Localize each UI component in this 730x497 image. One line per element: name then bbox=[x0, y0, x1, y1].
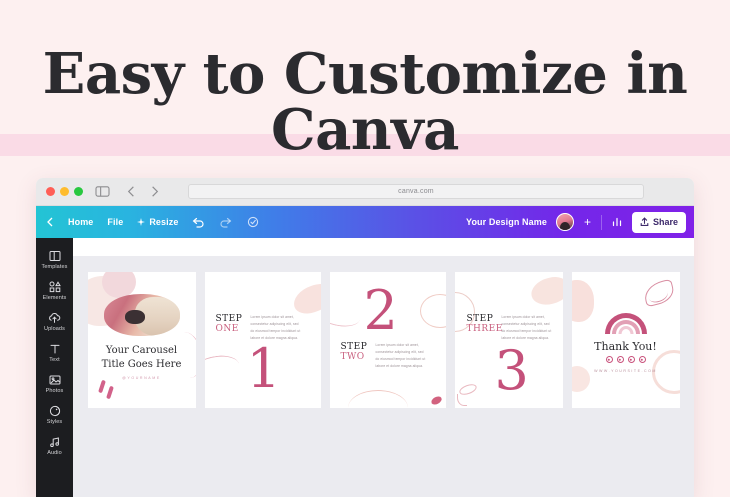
window-controls[interactable] bbox=[46, 187, 83, 196]
chevron-right-icon[interactable] bbox=[147, 185, 162, 198]
file-menu-button[interactable]: File bbox=[107, 217, 123, 227]
close-window-button[interactable] bbox=[46, 187, 55, 196]
slide-1[interactable]: Your Carousel Title Goes Here @YOURNAME bbox=[88, 272, 196, 408]
headline-banner: Easy to Customize in Canva bbox=[0, 46, 730, 158]
sidebar-label: Elements bbox=[43, 295, 67, 301]
sidebar-label: Uploads bbox=[44, 326, 65, 332]
instagram-icon[interactable] bbox=[617, 356, 624, 363]
sidebar-item-text[interactable]: Text bbox=[36, 337, 73, 367]
chevron-left-icon[interactable] bbox=[124, 185, 139, 198]
url-text: canva.com bbox=[398, 188, 434, 195]
slide-title[interactable]: Your Carousel Title Goes Here bbox=[88, 344, 196, 371]
slide-number: 3 bbox=[495, 344, 529, 398]
decor-hook bbox=[457, 394, 467, 406]
decor-ring bbox=[420, 294, 446, 328]
rainbow-graphic bbox=[605, 312, 647, 334]
avatar[interactable] bbox=[556, 213, 574, 231]
toolbar-right-group: Your Design Name + Share bbox=[466, 212, 686, 233]
editor-sidebar: Templates Elements Uploads bbox=[36, 238, 73, 497]
magic-resize-icon bbox=[137, 218, 145, 226]
sidebar-label: Audio bbox=[47, 450, 62, 456]
decor-arc bbox=[348, 390, 408, 408]
facebook-icon[interactable] bbox=[606, 356, 613, 363]
home-label: Home bbox=[68, 217, 93, 227]
canvas-area: Your Carousel Title Goes Here @YOURNAME … bbox=[73, 238, 694, 497]
canvas-toolbar-strip bbox=[73, 238, 694, 256]
social-icons-row bbox=[572, 356, 680, 363]
thank-you-text[interactable]: Thank You! bbox=[572, 340, 680, 353]
slide-step-label[interactable]: STEP THREE bbox=[467, 314, 503, 335]
elements-icon bbox=[49, 280, 61, 293]
website-url[interactable]: WWW.YOURSITE.COM bbox=[572, 369, 680, 373]
step-word-1: STEP bbox=[341, 342, 368, 352]
file-label: File bbox=[107, 217, 123, 227]
decor-dash bbox=[98, 380, 106, 394]
slide-3[interactable]: 2 STEP TWO Lorem ipsum dolor sit amet, c… bbox=[330, 272, 446, 408]
sidebar-label: Styles bbox=[47, 419, 63, 425]
text-icon bbox=[49, 342, 61, 355]
slide-body-text[interactable]: Lorem ipsum dolor sit amet, consectetur … bbox=[376, 342, 428, 370]
slide-5[interactable]: Thank You! WWW.YOURSITE.COM bbox=[572, 272, 680, 408]
sidebar-icon[interactable] bbox=[95, 185, 110, 198]
resize-label: Resize bbox=[149, 217, 178, 227]
resize-button[interactable]: Resize bbox=[137, 217, 178, 227]
sidebar-label: Photos bbox=[46, 388, 64, 394]
decor-pod bbox=[430, 395, 443, 406]
step-word-1: STEP bbox=[467, 314, 503, 324]
audio-icon bbox=[49, 435, 61, 448]
sidebar-item-elements[interactable]: Elements bbox=[36, 275, 73, 305]
twitter-icon[interactable] bbox=[628, 356, 635, 363]
browser-chrome: canva.com bbox=[36, 178, 694, 206]
photos-icon bbox=[49, 373, 61, 386]
step-word-2: ONE bbox=[216, 324, 243, 334]
slide-step-label[interactable]: STEP ONE bbox=[216, 314, 243, 335]
cloud-check-icon[interactable] bbox=[246, 216, 260, 228]
canvas-surface[interactable]: Your Carousel Title Goes Here @YOURNAME … bbox=[73, 256, 694, 497]
step-word-1: STEP bbox=[216, 314, 243, 324]
decor-blob bbox=[528, 274, 563, 308]
page-title: Easy to Customize in Canva bbox=[0, 46, 730, 158]
slide-title-line2: Title Goes Here bbox=[102, 359, 182, 370]
redo-icon[interactable] bbox=[219, 217, 232, 228]
canva-toolbar: Home File Resize bbox=[36, 206, 694, 238]
slide-body-text[interactable]: Lorem ipsum dolor sit amet, consectetur … bbox=[502, 314, 554, 342]
browser-window: canva.com Home File Resize bbox=[36, 178, 694, 497]
slide-4[interactable]: STEP THREE Lorem ipsum dolor sit amet, c… bbox=[455, 272, 563, 408]
sidebar-label: Templates bbox=[42, 264, 68, 270]
decor-line bbox=[330, 303, 361, 330]
decor-blob bbox=[572, 280, 594, 322]
templates-icon bbox=[49, 249, 61, 262]
add-member-button[interactable]: + bbox=[583, 216, 592, 228]
address-bar[interactable]: canva.com bbox=[188, 184, 644, 199]
styles-icon bbox=[49, 404, 61, 417]
home-button[interactable]: Home bbox=[68, 217, 93, 227]
browser-navigation[interactable] bbox=[120, 185, 162, 198]
toolbar-divider bbox=[601, 215, 602, 230]
chevron-left-icon[interactable] bbox=[46, 217, 54, 227]
toolbar-left-group: Home File Resize bbox=[46, 216, 260, 228]
bar-chart-icon[interactable] bbox=[611, 216, 623, 228]
step-word-2: TWO bbox=[341, 352, 368, 362]
sidebar-item-styles[interactable]: Styles bbox=[36, 399, 73, 429]
pinterest-icon[interactable] bbox=[639, 356, 646, 363]
sidebar-item-photos[interactable]: Photos bbox=[36, 368, 73, 398]
maximize-window-button[interactable] bbox=[74, 187, 83, 196]
slide-number: 2 bbox=[364, 284, 398, 338]
slide-title-line1: Your Carousel bbox=[106, 345, 177, 356]
decor-line bbox=[205, 353, 240, 381]
decor-dash bbox=[106, 386, 114, 400]
undo-icon[interactable] bbox=[192, 217, 205, 228]
sidebar-item-templates[interactable]: Templates bbox=[36, 244, 73, 274]
slide-step-label[interactable]: STEP TWO bbox=[341, 342, 368, 363]
slide-photo[interactable] bbox=[104, 294, 180, 336]
editor-body: Templates Elements Uploads bbox=[36, 238, 694, 497]
step-word-2: THREE bbox=[467, 324, 503, 334]
sidebar-label: Text bbox=[49, 357, 60, 363]
minimize-window-button[interactable] bbox=[60, 187, 69, 196]
design-name-field[interactable]: Your Design Name bbox=[466, 217, 547, 227]
slide-2[interactable]: STEP ONE Lorem ipsum dolor sit amet, con… bbox=[205, 272, 321, 408]
uploads-icon bbox=[48, 311, 61, 324]
decor-petal bbox=[289, 280, 320, 317]
sidebar-item-audio[interactable]: Audio bbox=[36, 430, 73, 460]
share-button[interactable]: Share bbox=[632, 212, 686, 233]
share-label: Share bbox=[653, 217, 678, 227]
slide-number: 1 bbox=[247, 342, 281, 396]
upload-icon bbox=[640, 217, 649, 227]
sidebar-item-uploads[interactable]: Uploads bbox=[36, 306, 73, 336]
